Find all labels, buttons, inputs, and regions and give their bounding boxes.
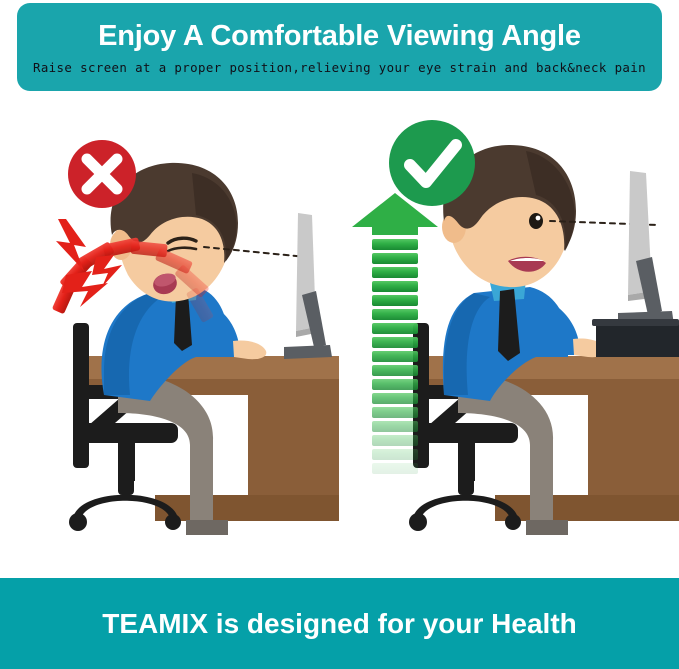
footer-banner: TEAMIX is designed for your Health bbox=[0, 578, 679, 669]
good-posture-illustration bbox=[340, 95, 679, 578]
hand bbox=[233, 340, 266, 359]
header-banner: Enjoy A Comfortable Viewing Angle Raise … bbox=[17, 3, 662, 91]
x-mark-badge bbox=[68, 140, 136, 208]
monitor bbox=[618, 171, 674, 327]
page-title: Enjoy A Comfortable Viewing Angle bbox=[98, 21, 581, 51]
monitor-riser-stand bbox=[592, 319, 679, 357]
page-subtitle: Raise screen at a proper position,reliev… bbox=[33, 60, 646, 75]
illustration-area bbox=[0, 95, 679, 578]
monitor bbox=[284, 213, 332, 359]
bad-posture-illustration bbox=[0, 95, 339, 578]
footer-title: TEAMIX is designed for your Health bbox=[102, 608, 577, 640]
check-mark-badge bbox=[389, 120, 475, 206]
